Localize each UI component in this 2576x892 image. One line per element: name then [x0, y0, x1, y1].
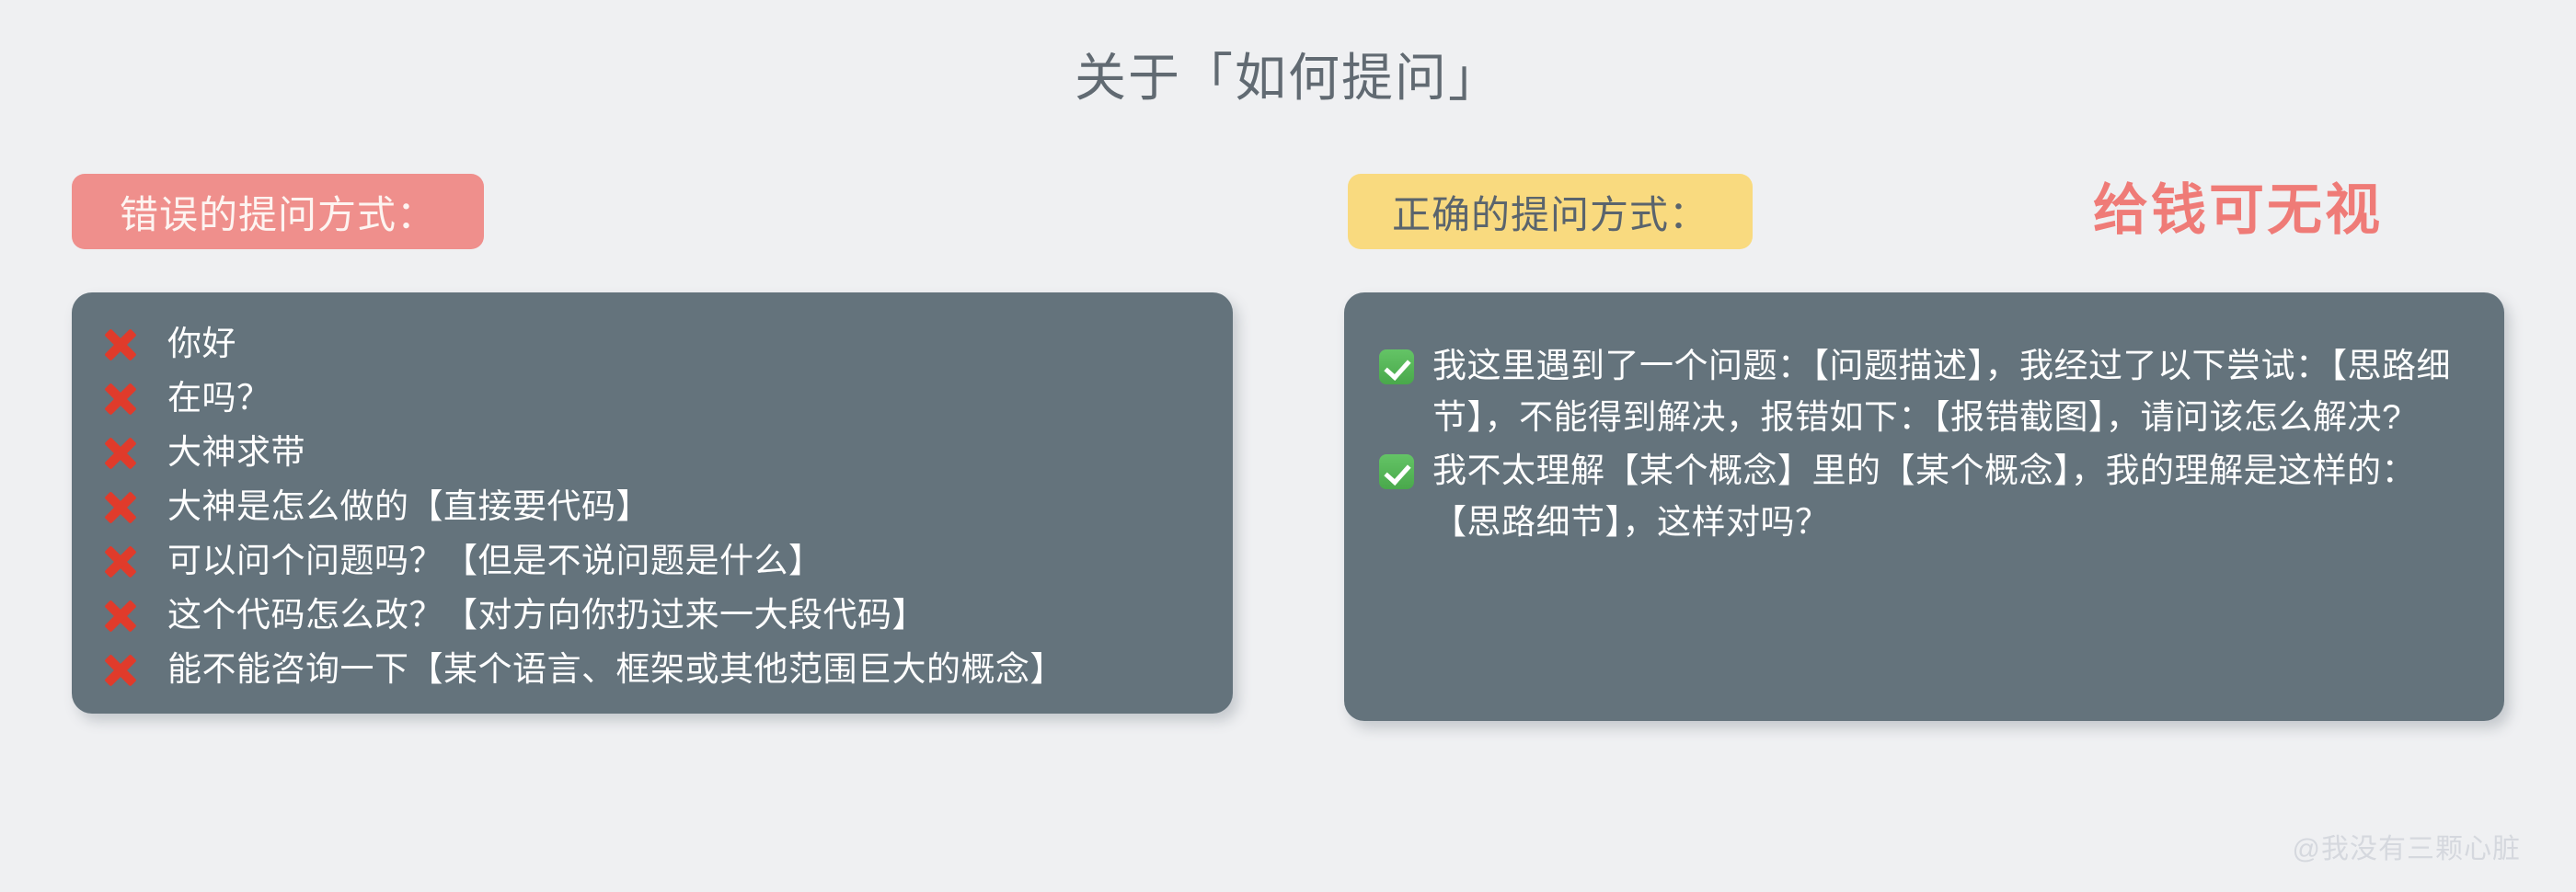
wrong-section-badge: 错误的提问方式：: [72, 174, 484, 249]
list-item-label: 能不能咨询一下【某个语言、框架或其他范围巨大的概念】: [167, 642, 1064, 696]
check-mark-button-icon: [1379, 454, 1414, 489]
list-item-label: 大神求带: [167, 425, 305, 479]
wrong-examples-card: 你好 在吗？ 大神求带 大神是怎么做的【直接要代码】 可以问个问题吗？【但是不说…: [72, 292, 1233, 714]
cross-mark-icon: [99, 642, 140, 696]
list-item: 可以问个问题吗？【但是不说问题是什么】: [99, 533, 1202, 588]
list-item: 你好: [99, 316, 1202, 371]
correct-examples-list: 我这里遇到了一个问题：【问题描述】，我经过了以下尝试：【思路细节】，不能得到解决…: [1379, 340, 2467, 548]
wrong-examples-list: 你好 在吗？ 大神求带 大神是怎么做的【直接要代码】 可以问个问题吗？【但是不说…: [99, 316, 1202, 696]
cross-mark-icon: [99, 425, 140, 479]
watermark: @我没有三颗心脏: [2293, 826, 2521, 866]
correct-section-badge: 正确的提问方式：: [1348, 174, 1753, 249]
page-title: 关于「如何提问」: [0, 37, 2576, 111]
cross-mark-icon: [99, 533, 140, 588]
correct-section-badge-label: 正确的提问方式：: [1392, 184, 1708, 240]
list-item-label: 这个代码怎么改？【对方向你扔过来一大段代码】: [167, 588, 926, 642]
check-mark-button-icon: [1379, 349, 1414, 384]
list-item-label: 大神是怎么做的【直接要代码】: [167, 479, 650, 533]
list-item: 能不能咨询一下【某个语言、框架或其他范围巨大的概念】: [99, 642, 1202, 696]
poster-canvas: 关于「如何提问」 错误的提问方式： 你好 在吗？ 大神求带 大神是怎么做的【直接…: [0, 0, 2576, 892]
cross-mark-icon: [99, 371, 140, 425]
cross-mark-icon: [99, 588, 140, 642]
list-item: 我不太理解【某个概念】里的【某个概念】，我的理解是这样的：【思路细节】，这样对吗…: [1379, 445, 2467, 548]
list-item-label: 在吗？: [167, 371, 271, 425]
cross-mark-icon: [99, 316, 140, 371]
correct-examples-card: 我这里遇到了一个问题：【问题描述】，我经过了以下尝试：【思路细节】，不能得到解决…: [1344, 292, 2504, 721]
list-item: 大神求带: [99, 425, 1202, 479]
list-item-label: 我这里遇到了一个问题：【问题描述】，我经过了以下尝试：【思路细节】，不能得到解决…: [1432, 347, 2451, 436]
list-item-label: 你好: [167, 316, 236, 371]
list-item: 这个代码怎么改？【对方向你扔过来一大段代码】: [99, 588, 1202, 642]
list-item: 在吗？: [99, 371, 1202, 425]
list-item-label: 我不太理解【某个概念】里的【某个概念】，我的理解是这样的：【思路细节】，这样对吗…: [1432, 452, 2416, 541]
list-item: 我这里遇到了一个问题：【问题描述】，我经过了以下尝试：【思路细节】，不能得到解决…: [1379, 340, 2467, 443]
cross-mark-icon: [99, 479, 140, 533]
list-item: 大神是怎么做的【直接要代码】: [99, 479, 1202, 533]
list-item-label: 可以问个问题吗？【但是不说问题是什么】: [167, 533, 823, 588]
callout-text: 给钱可无视: [2093, 166, 2383, 246]
wrong-section-badge-label: 错误的提问方式：: [120, 184, 436, 240]
